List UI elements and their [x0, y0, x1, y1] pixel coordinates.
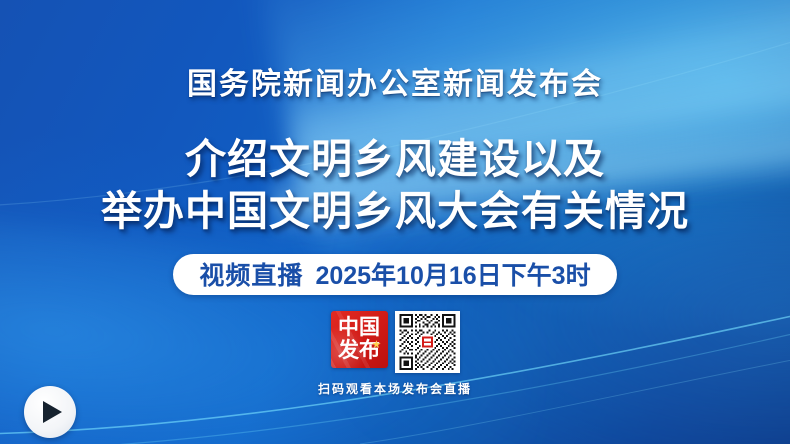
page-title: 介绍文明乡风建设以及 举办中国文明乡风大会有关情况	[0, 133, 790, 238]
headline-line-2: 举办中国文明乡风大会有关情况	[0, 185, 790, 237]
headline-line-1: 介绍文明乡风建设以及	[0, 133, 790, 185]
scan-instruction-text: 扫码观看本场发布会直播	[0, 380, 790, 397]
brand-row: 中国 发布 ★	[0, 311, 790, 373]
live-stream-badge[interactable]: 视频直播 2025年10月16日下午3时	[173, 254, 616, 295]
press-conference-poster: 国务院新闻办公室新闻发布会 介绍文明乡风建设以及 举办中国文明乡风大会有关情况 …	[0, 0, 790, 444]
qr-code[interactable]	[395, 311, 460, 373]
star-icon: ★	[372, 341, 381, 350]
organization-title: 国务院新闻办公室新闻发布会	[0, 68, 790, 101]
badge-row: 视频直播 2025年10月16日下午3时	[0, 254, 790, 295]
play-button[interactable]	[24, 386, 76, 438]
china-release-logo[interactable]: 中国 发布 ★	[331, 311, 388, 368]
live-stream-datetime: 2025年10月16日下午3时	[315, 256, 590, 292]
qr-code-icon	[398, 314, 457, 370]
play-icon	[43, 401, 62, 423]
poster-content: 国务院新闻办公室新闻发布会 介绍文明乡风建设以及 举办中国文明乡风大会有关情况 …	[0, 0, 790, 397]
logo-text-line-1: 中国	[338, 317, 380, 338]
live-stream-label: 视频直播	[199, 256, 303, 292]
